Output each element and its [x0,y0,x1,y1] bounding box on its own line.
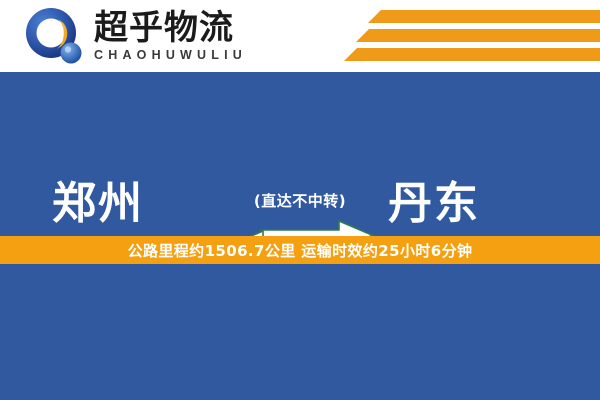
route-note-top: (直达不中转) [0,190,600,211]
stripe-top [368,10,600,23]
circle-q-logo-icon [24,6,86,66]
stripe-middle [356,29,600,42]
brand-name-cn: 超乎物流 [94,11,247,47]
route-band: 郑州 (直达不中转) 【往返运输】 丹东 [0,72,600,236]
brand-block: 超乎物流 CHAOHUWULIU [24,6,247,66]
coverage-section: 元宝区、振兴区、振安区、宽甸满族自治县、东港市、凤城市 [0,264,600,400]
distance-duration-band: 公路里程约1506.7公里 运输时效约25小时6分钟 [0,236,600,264]
speed-stripes-icon [350,8,600,66]
brand-name-en: CHAOHUWULIU [94,48,247,63]
distance-duration-text: 公路里程约1506.7公里 运输时效约25小时6分钟 [128,240,473,261]
brand-text-block: 超乎物流 CHAOHUWULIU [94,9,247,64]
poster-header: 超乎物流 CHAOHUWULIU [0,0,600,72]
destination-city: 丹东 [388,182,480,226]
stripe-bottom [344,48,600,61]
logistics-route-poster: 超乎物流 CHAOHUWULIU 郑州 (直达不中转) 【往返运输】 丹东 公路… [0,0,600,400]
